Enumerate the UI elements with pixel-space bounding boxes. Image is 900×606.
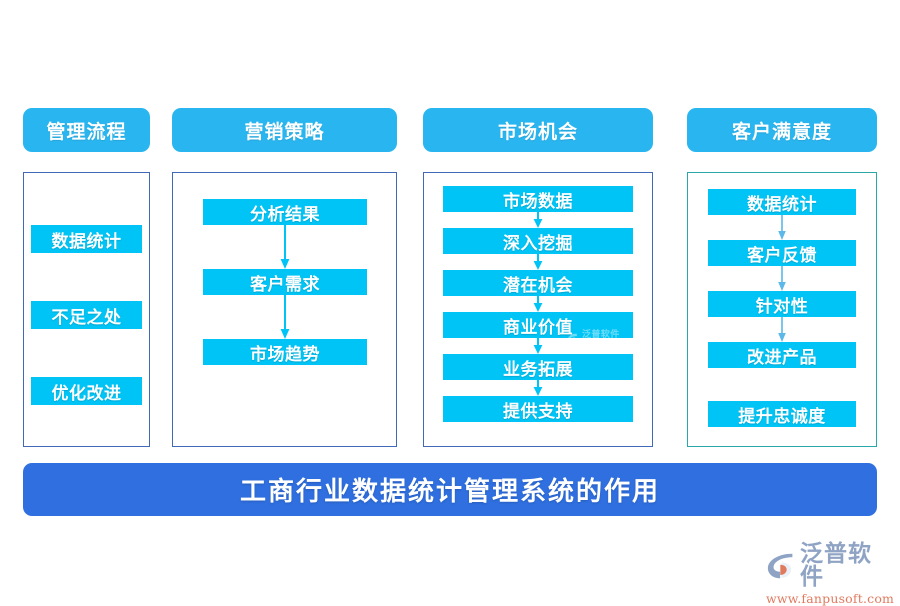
flow-chip-label: 提供支持 [503, 397, 573, 422]
brand-logo[interactable]: 泛普软件 www.fanpusoft.com [766, 543, 886, 589]
arrow-down-icon-c2-1 [279, 225, 291, 269]
flow-chip-label: 客户需求 [250, 270, 320, 295]
flow-chip-label: 分析结果 [250, 200, 320, 225]
banner-title: 工商行业数据统计管理系统的作用 [240, 471, 660, 508]
arrow-down-icon-c4-2 [776, 266, 788, 291]
arrow-down-icon-c4-3 [776, 317, 788, 342]
column-header-label: 营销策略 [244, 117, 324, 144]
flow-chip-c1-2[interactable]: 不足之处 [31, 301, 142, 329]
arrow-down-icon-c3-2 [532, 254, 544, 270]
flow-chip-label: 优化改进 [52, 379, 122, 404]
flow-chip-label: 提升忠诚度 [738, 402, 826, 427]
flow-chip-label: 业务拓展 [503, 355, 573, 380]
column-header-pill-3[interactable]: 市场机会 [423, 108, 653, 152]
arrow-down-icon-c3-1 [532, 212, 544, 228]
flow-chip-c2-3[interactable]: 市场趋势 [203, 339, 367, 365]
flow-chip-c4-3[interactable]: 针对性 [708, 291, 856, 317]
flow-chip-label: 深入挖掘 [503, 229, 573, 254]
flow-chip-c2-2[interactable]: 客户需求 [203, 269, 367, 295]
flow-chip-c3-1[interactable]: 市场数据 [443, 186, 633, 212]
flow-chip-c3-5[interactable]: 业务拓展 [443, 354, 633, 380]
flow-chip-c4-2[interactable]: 客户反馈 [708, 240, 856, 266]
flow-chip-label: 数据统计 [747, 190, 817, 215]
column-header-label: 管理流程 [46, 117, 126, 144]
flow-chip-label: 不足之处 [52, 303, 122, 328]
arrow-down-icon-c2-2 [279, 295, 291, 339]
flow-chip-c1-1[interactable]: 数据统计 [31, 225, 142, 253]
column-header-pill-4[interactable]: 客户满意度 [687, 108, 877, 152]
brand-logo-row: 泛普软件 [766, 543, 886, 589]
flow-chip-label: 针对性 [756, 292, 809, 317]
bottom-title-banner: 工商行业数据统计管理系统的作用 [23, 463, 877, 516]
flow-chip-label: 市场趋势 [250, 340, 320, 365]
column-header-pill-2[interactable]: 营销策略 [172, 108, 397, 152]
column-header-label: 市场机会 [498, 117, 578, 144]
arrow-down-icon-c4-1 [776, 215, 788, 240]
brand-logo-name: 泛普软件 [800, 543, 886, 589]
column-header-pill-1[interactable]: 管理流程 [23, 108, 150, 152]
flow-chip-c3-4[interactable]: 商业价值 [443, 312, 633, 338]
flow-chip-c3-3[interactable]: 潜在机会 [443, 270, 633, 296]
diagram-canvas: 管理流程 营销策略 市场机会 客户满意度 数据统计 不足之处 优化改进 分析结果… [0, 0, 900, 600]
arrow-down-icon-c3-3 [532, 296, 544, 312]
flow-chip-label: 数据统计 [52, 227, 122, 252]
flow-chip-label: 客户反馈 [747, 241, 817, 266]
flow-chip-c1-3[interactable]: 优化改进 [31, 377, 142, 405]
flow-chip-label: 潜在机会 [503, 271, 573, 296]
flow-chip-c2-1[interactable]: 分析结果 [203, 199, 367, 225]
flow-chip-c3-6[interactable]: 提供支持 [443, 396, 633, 422]
arrow-down-icon-c3-4 [532, 338, 544, 354]
fanpu-logo-mark-icon [766, 552, 796, 580]
flow-chip-c4-4[interactable]: 改进产品 [708, 342, 856, 368]
arrow-down-icon-c3-5 [532, 380, 544, 396]
brand-logo-url: www.fanpusoft.com [766, 591, 886, 606]
flow-chip-c4-1[interactable]: 数据统计 [708, 189, 856, 215]
flow-chip-c4-5[interactable]: 提升忠诚度 [708, 401, 856, 427]
flow-chip-label: 改进产品 [747, 343, 817, 368]
flow-chip-label: 商业价值 [503, 313, 573, 338]
flow-chip-label: 市场数据 [503, 187, 573, 212]
flow-chip-c3-2[interactable]: 深入挖掘 [443, 228, 633, 254]
column-header-label: 客户满意度 [732, 117, 832, 144]
